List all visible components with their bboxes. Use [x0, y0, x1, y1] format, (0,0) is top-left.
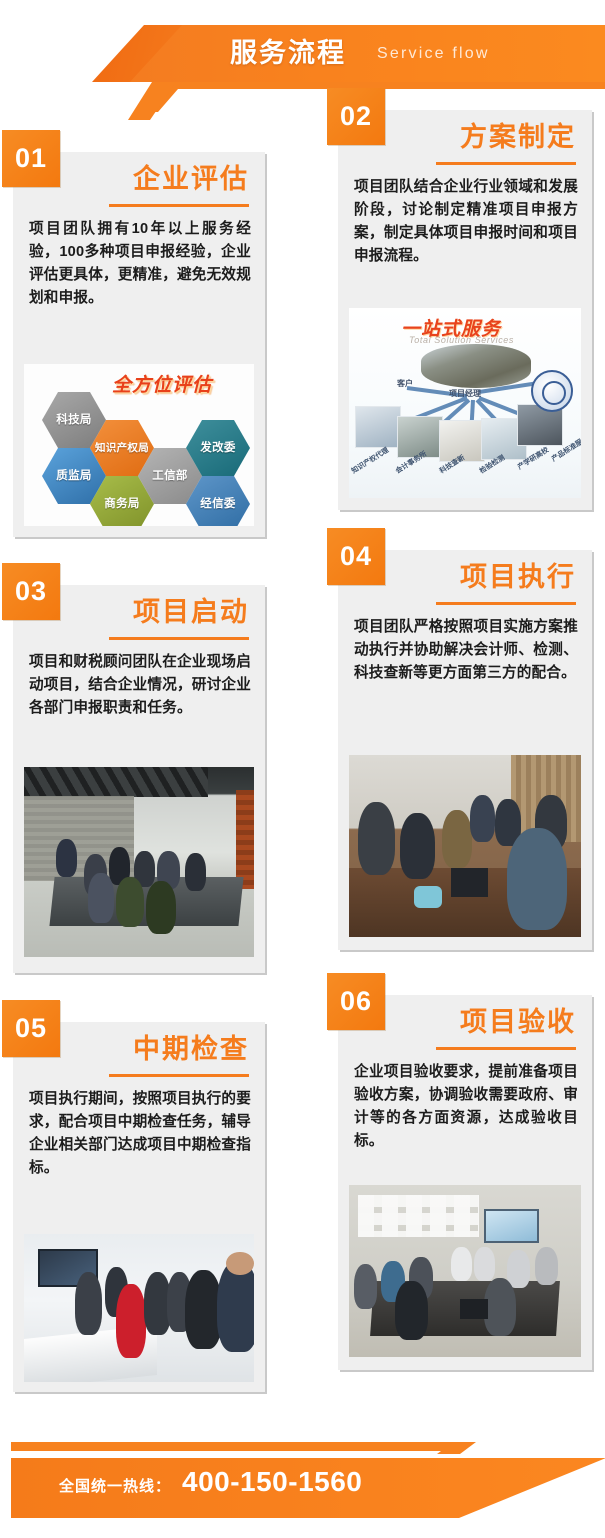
- photo-person: [442, 810, 472, 868]
- service-thumb-1: [355, 406, 401, 448]
- photo-showroom-visit: [24, 1234, 254, 1382]
- photo-certificate-wall: [358, 1195, 479, 1236]
- step-number-badge-04: 04: [327, 528, 385, 585]
- step-body-03: 项目和财税顾问团队在企业现场启动项目，结合企业情况，研讨企业各部门申报职责和任务…: [29, 651, 251, 720]
- step-media-06: [349, 1185, 581, 1357]
- footer-hotline-number[interactable]: 400-150-1560: [182, 1466, 362, 1498]
- title-underline-02: [436, 162, 576, 165]
- photo-working-session: [349, 755, 581, 937]
- photo-person: [507, 828, 567, 930]
- step-media-04: [349, 755, 581, 937]
- footer-accent-line-wedge: [430, 1434, 605, 1454]
- step-title-05: 中期检查: [133, 1030, 249, 1068]
- service-label-customer: 客户: [397, 378, 413, 389]
- photo-projector-screen: [484, 1209, 540, 1243]
- hexagon-infographic: 全方位评估 科技局 知识产权局 质监局 商务局 工信部 发改委 经信委: [24, 364, 254, 526]
- step-card-03: 03 项目启动 项目和财税顾问团队在企业现场启动项目，结合企业情况，研讨企业各部…: [13, 585, 265, 973]
- footer-hotline-label: 全国统一热线：: [59, 1475, 171, 1496]
- step-media-01: 全方位评估 科技局 知识产权局 质监局 商务局 工信部 发改委 经信委: [24, 364, 254, 526]
- step-media-02: 一站式服务 Total Solution Services: [349, 308, 581, 498]
- step-body-02: 项目团队结合企业行业领域和发展阶段，讨论制定精准项目申报方案，制定具体项目申报时…: [354, 176, 578, 268]
- service-flow-infographic-page: 服务流程 Service flow 01 企业评估 项目团队拥有10年以上服务经…: [0, 0, 605, 1538]
- photo-person: [146, 881, 176, 934]
- photo-person: [56, 839, 77, 877]
- photo-person: [88, 873, 113, 922]
- step-body-01: 项目团队拥有10年以上服务经验，100多种项目申报经验，企业评估更具体，更精准，…: [29, 218, 251, 310]
- photo-person: [470, 795, 496, 842]
- photo-wood-panel: [236, 790, 254, 889]
- photo-person: [185, 853, 206, 891]
- step-card-06: 06 项目验收 企业项目验收要求，提前准备项目验收方案，协调验收需要政府、审计等…: [338, 995, 592, 1370]
- photo-person: [400, 813, 435, 879]
- photo-boardroom-kickoff: [24, 767, 254, 957]
- step-body-04: 项目团队严格按照项目实施方案推动执行并协助解决会计师、检测、科技查新等更方面第三…: [354, 616, 578, 685]
- step-card-05: 05 中期检查 项目执行期间，按照项目执行的要求，配合项目中期检查任务，辅导企业…: [13, 1022, 265, 1392]
- step-number-badge-01: 01: [2, 130, 60, 187]
- step-title-01: 企业评估: [133, 160, 249, 198]
- step-title-02: 方案制定: [460, 118, 576, 156]
- footer-accent-line: [11, 1442, 461, 1451]
- page-title: 服务流程: [230, 33, 346, 73]
- photo-person: [395, 1281, 427, 1339]
- service-certification-seal: [531, 370, 573, 412]
- one-stop-service-infographic: 一站式服务 Total Solution Services: [349, 308, 581, 498]
- step-title-03: 项目启动: [133, 593, 249, 631]
- step-card-02: 02 方案制定 项目团队结合企业行业领域和发展阶段，讨论制定精准项目申报方案，制…: [338, 110, 592, 510]
- photo-person: [451, 1247, 472, 1281]
- photo-person: [354, 1264, 377, 1309]
- step-media-03: [24, 767, 254, 957]
- photo-ceiling: [24, 767, 208, 797]
- step-body-06: 企业项目验收要求，提前准备项目验收方案，协调验收需要政府、审计等的各方面资源，达…: [354, 1061, 578, 1153]
- step-title-04: 项目执行: [460, 558, 576, 596]
- photo-person: [116, 877, 144, 926]
- step-card-04: 04 项目执行 项目团队严格按照项目实施方案推动执行并协助解决会计师、检测、科技…: [338, 550, 592, 950]
- page-subtitle: Service flow: [377, 43, 490, 65]
- header-band: [130, 25, 605, 82]
- photo-person: [484, 1278, 516, 1336]
- step-number-badge-05: 05: [2, 1000, 60, 1057]
- photo-person-red-coat: [116, 1284, 146, 1358]
- title-underline-04: [436, 602, 576, 605]
- photo-person: [358, 802, 395, 875]
- step-media-05: [24, 1234, 254, 1382]
- step-body-05: 项目执行期间，按照项目执行的要求，配合项目中期检查任务，辅导企业相关部门达成项目…: [29, 1088, 251, 1180]
- title-underline-03: [109, 637, 249, 640]
- step-number-badge-06: 06: [327, 973, 385, 1030]
- title-underline-06: [436, 1047, 576, 1050]
- step-number-badge-02: 02: [327, 88, 385, 145]
- photo-person: [535, 1247, 558, 1285]
- photo-person: [75, 1272, 103, 1334]
- page-header: 服务流程 Service flow: [0, 0, 605, 120]
- photo-bag: [414, 886, 442, 908]
- service-label-manager: 项目经理: [449, 388, 481, 399]
- photo-person: [474, 1247, 495, 1281]
- photo-laptop: [460, 1299, 488, 1320]
- step-title-06: 项目验收: [460, 1003, 576, 1041]
- photo-laptop: [451, 868, 488, 897]
- photo-acceptance-meeting: [349, 1185, 581, 1357]
- step-number-badge-03: 03: [2, 563, 60, 620]
- step-card-01: 01 企业评估 项目团队拥有10年以上服务经验，100多种项目申报经验，企业评估…: [13, 152, 265, 537]
- title-underline-05: [109, 1074, 249, 1077]
- title-underline-01: [109, 204, 249, 207]
- hexagon-infographic-title: 全方位评估: [112, 370, 212, 397]
